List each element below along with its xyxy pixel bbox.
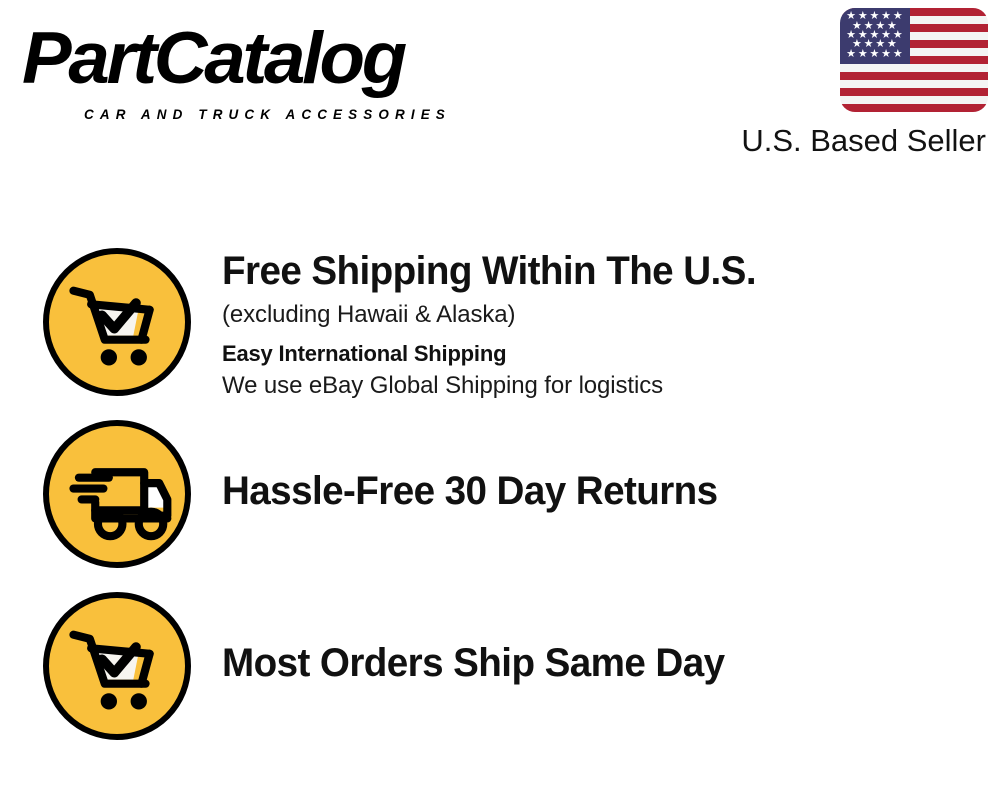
us-flag-icon: ★★★★★★★★★★★★★★★★★★★★★★★ <box>840 8 988 112</box>
feature-heading: Free Shipping Within The U.S. <box>222 248 955 294</box>
feature-text: Free Shipping Within The U.S. (excluding… <box>222 248 982 402</box>
us-based-seller-block: ★★★★★★★★★★★★★★★★★★★★★★★ U.S. Based Selle… <box>688 8 988 159</box>
flag-star: ★ <box>870 49 880 60</box>
feature-text: Hassle-Free 30 Day Returns <box>222 468 982 514</box>
flag-star: ★ <box>881 49 891 60</box>
brand-logo: PartCatalog CAR AND TRUCK ACCESSORIES <box>22 18 492 118</box>
brand-wordmark: PartCatalog <box>22 18 404 100</box>
shopping-cart-check-icon <box>43 248 191 396</box>
flag-star: ★ <box>846 49 856 60</box>
feature-subtext-strong: Easy International Shipping <box>222 338 982 370</box>
brand-tagline: CAR AND TRUCK ACCESSORIES <box>84 106 451 122</box>
flag-star: ★ <box>893 49 903 60</box>
feature-heading: Hassle-Free 30 Day Returns <box>222 468 955 514</box>
flag-stripe <box>840 72 988 80</box>
flag-star: ★ <box>858 49 868 60</box>
feature-text: Most Orders Ship Same Day <box>222 640 982 686</box>
delivery-truck-icon <box>43 420 191 568</box>
feature-subtext-secondary: We use eBay Global Shipping for logistic… <box>222 370 982 402</box>
shopping-cart-check-icon <box>43 592 191 740</box>
feature-heading: Most Orders Ship Same Day <box>222 640 955 686</box>
flag-stripe <box>840 104 988 112</box>
flag-stripe <box>840 88 988 96</box>
promo-banner: PartCatalog CAR AND TRUCK ACCESSORIES ★★… <box>0 0 1000 800</box>
seller-label: U.S. Based Seller <box>688 123 988 159</box>
feature-subtext: (excluding Hawaii & Alaska) <box>222 299 982 331</box>
